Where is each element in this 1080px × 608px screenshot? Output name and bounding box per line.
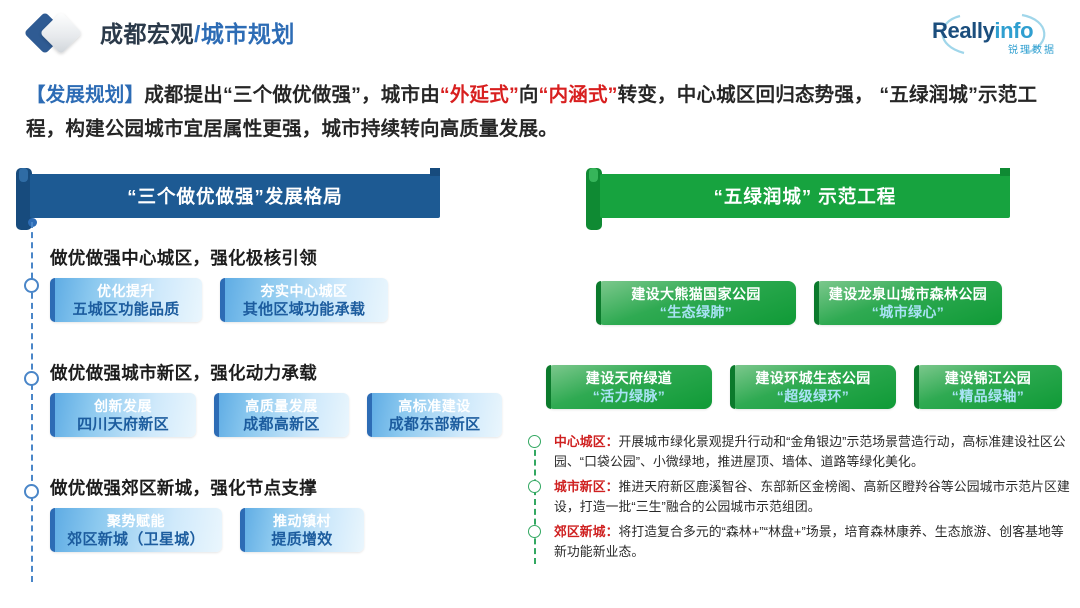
right-card-1-2-line2: “城市绿心” <box>872 303 944 321</box>
left-section-1-cards: 优化提升 五城区功能品质 夯实中心城区 其他区域功能承载 <box>50 278 406 322</box>
right-card-row-2: 建设天府绿道 “活力绿脉” 建设环城生态公园 “超级绿环” 建设锦江公园 “精品… <box>546 365 1062 409</box>
right-card-2-3-line1: 建设锦江公园 <box>945 369 1031 387</box>
timeline-marker-1 <box>24 278 39 293</box>
page-title: 成都宏观/城市规划 <box>100 15 295 49</box>
left-card-2-1-line1: 创新发展 <box>94 397 152 415</box>
left-card-2-2[interactable]: 高质量发展 成都高新区 <box>214 393 349 437</box>
right-card-2-3[interactable]: 建设锦江公园 “精品绿轴” <box>914 365 1062 409</box>
note-item-3-key: 郊区新城： <box>554 524 618 539</box>
right-card-1-1[interactable]: 建设大熊猫国家公园 “生态绿肺” <box>596 281 796 325</box>
brand-name-part1: Really <box>932 18 994 43</box>
left-section-2: 做优做强城市新区，强化动力承载 创新发展 四川天府新区 高质量发展 成都高新区 … <box>50 360 520 437</box>
left-section-1-title: 做优做强中心城区，强化极核引领 <box>50 245 406 270</box>
summary-tag: 【发展规划】 <box>26 84 144 106</box>
left-card-3-1-line2: 郊区新城（卫星城） <box>67 530 205 549</box>
left-card-2-3-line2: 成都东部新区 <box>389 415 481 434</box>
note-item-2-key: 城市新区： <box>554 479 618 494</box>
left-card-1-1-line1: 优化提升 <box>97 282 155 300</box>
left-card-1-1[interactable]: 优化提升 五城区功能品质 <box>50 278 202 322</box>
left-card-3-2-line1: 推动镇村 <box>273 512 331 530</box>
summary-text-1: 成都提出“三个做优做强”，城市由 <box>144 84 440 106</box>
left-card-2-3-line1: 高标准建设 <box>398 397 471 415</box>
left-section-3-title: 做优做强郊区新城，强化节点支撑 <box>50 475 382 500</box>
summary-highlight-2: “内涵式” <box>539 84 618 106</box>
note-bullet-icon-3 <box>528 525 541 538</box>
right-card-2-2[interactable]: 建设环城生态公园 “超级绿环” <box>730 365 896 409</box>
left-section-3: 做优做强郊区新城，强化节点支撑 聚势赋能 郊区新城（卫星城） 推动镇村 提质增效 <box>50 475 382 552</box>
banner-curl-tip <box>19 168 28 182</box>
summary-paragraph: 【发展规划】成都提出“三个做优做强”，城市由“外延式”向“内涵式”转变，中心城区… <box>26 78 1056 146</box>
right-card-1-1-line1: 建设大熊猫国家公园 <box>631 285 761 303</box>
note-item-1: 中心城区：开展城市绿化景观提升行动和“金角银边”示范场景营造行动，高标准建设社区… <box>528 432 1073 472</box>
left-card-2-2-line2: 成都高新区 <box>243 415 320 434</box>
note-item-3: 郊区新城：将打造复合多元的“森林+”“林盘+”场景，培育森林康养、生态旅游、创客… <box>528 522 1073 562</box>
timeline-marker-3 <box>24 484 39 499</box>
left-card-3-1-line1: 聚势赋能 <box>107 512 165 530</box>
right-card-1-2[interactable]: 建设龙泉山城市森林公园 “城市绿心” <box>814 281 1002 325</box>
banner-curl-tip-green <box>589 168 598 182</box>
right-card-1-2-line1: 建设龙泉山城市森林公园 <box>829 285 987 303</box>
right-card-2-1-line2: “活力绿脉” <box>593 387 665 405</box>
right-card-row-1: 建设大熊猫国家公园 “生态绿肺” 建设龙泉山城市森林公园 “城市绿心” <box>596 281 1020 325</box>
note-bullet-icon-2 <box>528 480 541 493</box>
left-card-1-1-line2: 五城区功能品质 <box>72 300 179 319</box>
right-card-2-1[interactable]: 建设天府绿道 “活力绿脉” <box>546 365 712 409</box>
page-title-main: 成都宏观 <box>100 21 194 47</box>
right-notes-list: 中心城区：开展城市绿化景观提升行动和“金角银边”示范场景营造行动，高标准建设社区… <box>528 432 1073 567</box>
left-section-2-cards: 创新发展 四川天府新区 高质量发展 成都高新区 高标准建设 成都东部新区 <box>50 393 520 437</box>
summary-highlight-1: “外延式” <box>440 84 519 106</box>
timeline-marker-2 <box>24 371 39 386</box>
timeline-line <box>31 222 35 582</box>
left-panel-banner-label: “三个做优做强”发展格局 <box>30 174 440 218</box>
right-card-2-3-line2: “精品绿轴” <box>952 387 1024 405</box>
note-bullet-icon-1 <box>528 435 541 448</box>
summary-text-2: 向 <box>519 84 539 106</box>
left-card-1-2[interactable]: 夯实中心城区 其他区域功能承载 <box>220 278 388 322</box>
left-panel-banner: “三个做优做强”发展格局 <box>16 174 440 218</box>
note-item-2: 城市新区：推进天府新区鹿溪智谷、东部新区金榜阁、高新区瞪羚谷等公园城市示范片区建… <box>528 477 1073 517</box>
note-item-3-text: 将打造复合多元的“森林+”“林盘+”场景，培育森林康养、生态旅游、创客基地等新功… <box>554 524 1064 559</box>
left-card-3-2[interactable]: 推动镇村 提质增效 <box>240 508 364 552</box>
left-card-3-1[interactable]: 聚势赋能 郊区新城（卫星城） <box>50 508 222 552</box>
brand-subtitle: 锐理数据 <box>1008 41 1056 56</box>
left-card-2-2-line1: 高质量发展 <box>245 397 318 415</box>
brand-name-part2: info <box>994 18 1033 43</box>
right-panel-banner-label: “五绿润城” 示范工程 <box>600 174 1010 218</box>
left-section-1: 做优做强中心城区，强化极核引领 优化提升 五城区功能品质 夯实中心城区 其他区域… <box>50 245 406 322</box>
note-item-1-key: 中心城区： <box>554 434 618 449</box>
right-card-1-1-line2: “生态绿肺” <box>660 303 732 321</box>
right-panel-banner: “五绿润城” 示范工程 <box>586 174 1010 218</box>
left-card-2-1-line2: 四川天府新区 <box>77 415 169 434</box>
left-card-2-3[interactable]: 高标准建设 成都东部新区 <box>367 393 502 437</box>
page-header: 成都宏观/城市规划 Reallyinfo 锐理数据 <box>0 0 1080 68</box>
left-card-1-2-line2: 其他区域功能承载 <box>243 300 365 319</box>
left-section-3-cards: 聚势赋能 郊区新城（卫星城） 推动镇村 提质增效 <box>50 508 382 552</box>
left-card-2-1[interactable]: 创新发展 四川天府新区 <box>50 393 196 437</box>
right-card-2-2-line1: 建设环城生态公园 <box>755 369 870 387</box>
right-card-2-1-line1: 建设天府绿道 <box>586 369 672 387</box>
brand-logo: Reallyinfo 锐理数据 <box>924 12 1064 58</box>
left-card-1-2-line1: 夯实中心城区 <box>261 282 348 300</box>
left-section-2-title: 做优做强城市新区，强化动力承载 <box>50 360 520 385</box>
left-card-3-2-line2: 提质增效 <box>271 530 332 549</box>
right-card-2-2-line2: “超级绿环” <box>777 387 849 405</box>
note-item-1-text: 开展城市绿化景观提升行动和“金角银边”示范场景营造行动，高标准建设社区公园、“口… <box>554 434 1066 469</box>
note-item-2-text: 推进天府新区鹿溪智谷、东部新区金榜阁、高新区瞪羚谷等公园城市示范片区建设，打造一… <box>554 479 1070 514</box>
page-title-sub: /城市规划 <box>194 21 295 47</box>
logo-diamond-icon <box>30 14 92 54</box>
